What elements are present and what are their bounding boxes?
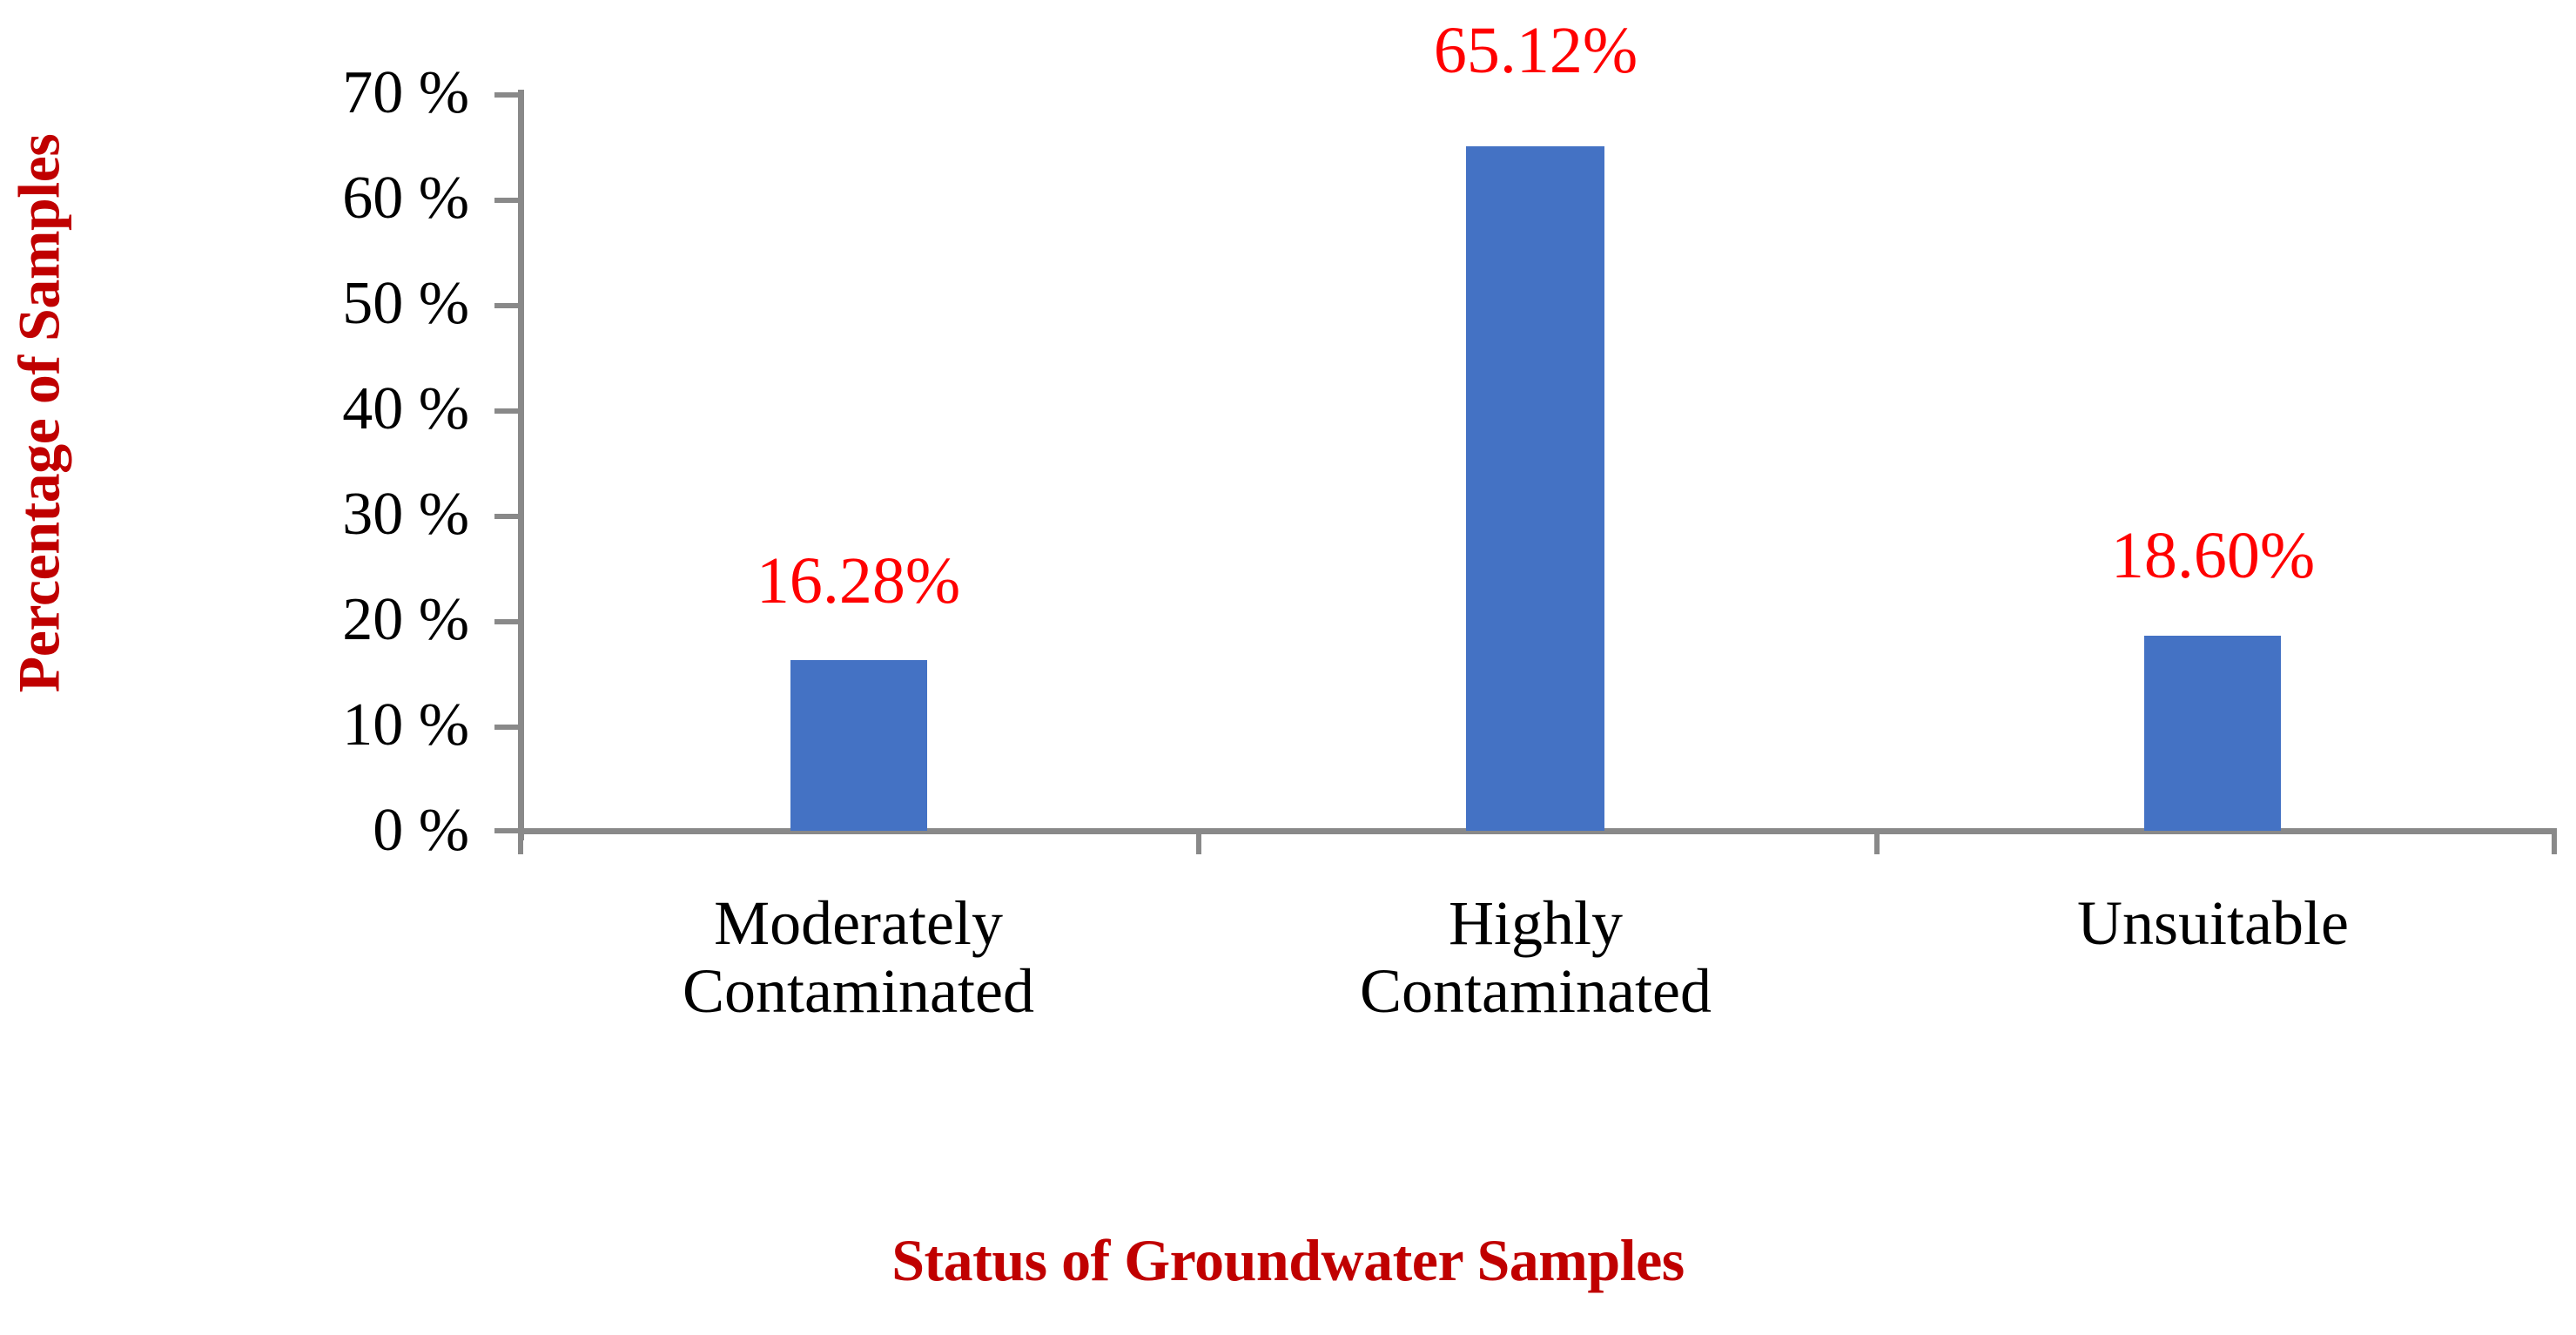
x-category-label-highly-contaminated: Highly Contaminated	[1231, 890, 1840, 1026]
chart-canvas: Percentage of Samples 70 % 60 % 50 % 40 …	[0, 0, 2576, 1335]
data-label-moderately-contaminated: 16.28%	[641, 548, 1076, 614]
bar-highly-contaminated[interactable]	[1466, 146, 1604, 831]
data-label-unsuitable: 18.60%	[1995, 523, 2431, 589]
bar-moderately-contaminated[interactable]	[790, 660, 927, 831]
data-label-highly-contaminated: 65.12%	[1318, 17, 1753, 84]
y-tick-mark-0	[494, 828, 518, 833]
bar-unsuitable[interactable]	[2144, 636, 2281, 831]
y-tick-mark-40	[494, 408, 518, 414]
x-category-label-unsuitable: Unsuitable	[1908, 890, 2518, 958]
y-tick-mark-20	[494, 619, 518, 624]
x-tick-mark-0	[518, 828, 523, 854]
y-tick-label-40: 40 %	[104, 379, 469, 440]
x-category-label-moderately-contaminated: Moderately Contaminated	[554, 890, 1163, 1026]
x-tick-mark-2	[1874, 828, 1880, 854]
y-tick-mark-50	[494, 303, 518, 308]
y-tick-mark-70	[494, 92, 518, 98]
y-tick-mark-30	[494, 514, 518, 519]
y-tick-mark-60	[494, 198, 518, 203]
y-tick-label-0: 0 %	[104, 800, 469, 861]
y-tick-label-30: 30 %	[104, 484, 469, 545]
y-tick-label-50: 50 %	[104, 273, 469, 334]
y-tick-label-60: 60 %	[104, 168, 469, 229]
x-tick-mark-3	[2552, 828, 2557, 854]
y-axis-title: Percentage of Samples	[5, 65, 74, 762]
y-axis-line	[518, 90, 524, 840]
y-tick-label-70: 70 %	[104, 63, 469, 124]
x-axis-title: Status of Groundwater Samples	[0, 1226, 2576, 1295]
x-tick-mark-1	[1196, 828, 1201, 854]
y-tick-label-10: 10 %	[104, 695, 469, 756]
y-tick-label-20: 20 %	[104, 590, 469, 651]
y-tick-mark-10	[494, 725, 518, 730]
